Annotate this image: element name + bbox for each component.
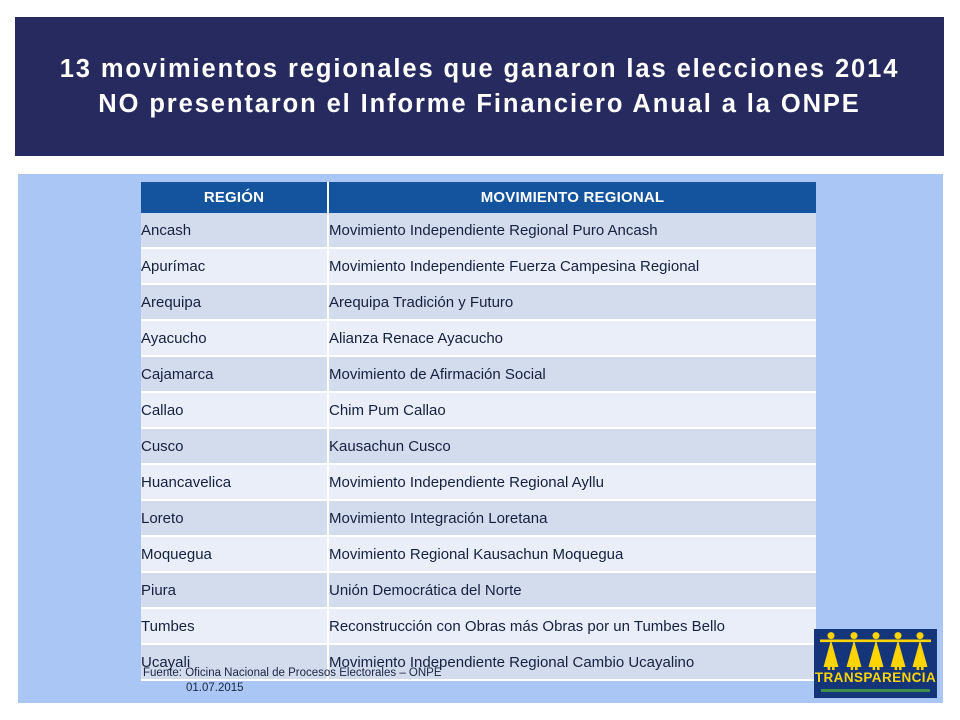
cell-movimiento: Unión Democrática del Norte — [329, 573, 816, 609]
cell-region: Cajamarca — [141, 357, 329, 393]
table-row: AncashMovimiento Independiente Regional … — [141, 213, 816, 249]
cell-region: Apurímac — [141, 249, 329, 285]
table-row: MoqueguaMovimiento Regional Kausachun Mo… — [141, 537, 816, 573]
slide-title-banner: 13 movimientos regionales que ganaron la… — [15, 17, 944, 156]
cell-region: Piura — [141, 573, 329, 609]
table-row: HuancavelicaMovimiento Independiente Reg… — [141, 465, 816, 501]
cell-movimiento: Movimiento Independiente Fuerza Campesin… — [329, 249, 816, 285]
table-row: LoretoMovimiento Integración Loretana — [141, 501, 816, 537]
column-header-movimiento: MOVIMIENTO REGIONAL — [329, 182, 816, 213]
cell-movimiento: Movimiento Integración Loretana — [329, 501, 816, 537]
table-row: PiuraUnión Democrática del Norte — [141, 573, 816, 609]
people-chain-icon — [814, 629, 937, 674]
cell-region: Moquegua — [141, 537, 329, 573]
cell-movimiento: Alianza Renace Ayacucho — [329, 321, 816, 357]
cell-region: Cusco — [141, 429, 329, 465]
cell-region: Arequipa — [141, 285, 329, 321]
cell-region: Ancash — [141, 213, 329, 249]
transparencia-logo: TRANSPARENCIA — [814, 629, 937, 698]
cell-movimiento: Movimiento Regional Kausachun Moquegua — [329, 537, 816, 573]
slide-title-line-1: 13 movimientos regionales que ganaron la… — [60, 52, 900, 87]
cell-region: Ayacucho — [141, 321, 329, 357]
column-header-region: REGIÓN — [141, 182, 329, 213]
table-header-row: REGIÓN MOVIMIENTO REGIONAL — [141, 182, 816, 213]
table-row: ArequipaArequipa Tradición y Futuro — [141, 285, 816, 321]
table-row: TumbesReconstrucción con Obras más Obras… — [141, 609, 816, 645]
cell-region: Callao — [141, 393, 329, 429]
slide-title-line-2: NO presentaron el Informe Financiero Anu… — [98, 87, 860, 122]
cell-region: Huancavelica — [141, 465, 329, 501]
cell-movimiento: Movimiento Independiente Regional Ayllu — [329, 465, 816, 501]
source-date: 01.07.2015 — [186, 681, 244, 696]
table-row: CallaoChim Pum Callao — [141, 393, 816, 429]
table-row: ApurímacMovimiento Independiente Fuerza … — [141, 249, 816, 285]
table-row: AyacuchoAlianza Renace Ayacucho — [141, 321, 816, 357]
table-body: AncashMovimiento Independiente Regional … — [141, 213, 816, 681]
source-note: Fuente: Oficina Nacional de Procesos Ele… — [143, 666, 442, 681]
table-row: CuscoKausachun Cusco — [141, 429, 816, 465]
cell-movimiento: Kausachun Cusco — [329, 429, 816, 465]
table-row: CajamarcaMovimiento de Afirmación Social — [141, 357, 816, 393]
logo-underline — [821, 689, 930, 692]
cell-movimiento: Movimiento Independiente Regional Puro A… — [329, 213, 816, 249]
cell-movimiento: Movimiento de Afirmación Social — [329, 357, 816, 393]
cell-region: Tumbes — [141, 609, 329, 645]
regional-movements-table: REGIÓN MOVIMIENTO REGIONAL AncashMovimie… — [141, 182, 816, 681]
cell-movimiento: Reconstrucción con Obras más Obras por u… — [329, 609, 816, 645]
cell-movimiento: Chim Pum Callao — [329, 393, 816, 429]
cell-movimiento: Arequipa Tradición y Futuro — [329, 285, 816, 321]
cell-region: Loreto — [141, 501, 329, 537]
logo-wordmark: TRANSPARENCIA — [814, 670, 937, 685]
table-header: REGIÓN MOVIMIENTO REGIONAL — [141, 182, 816, 213]
